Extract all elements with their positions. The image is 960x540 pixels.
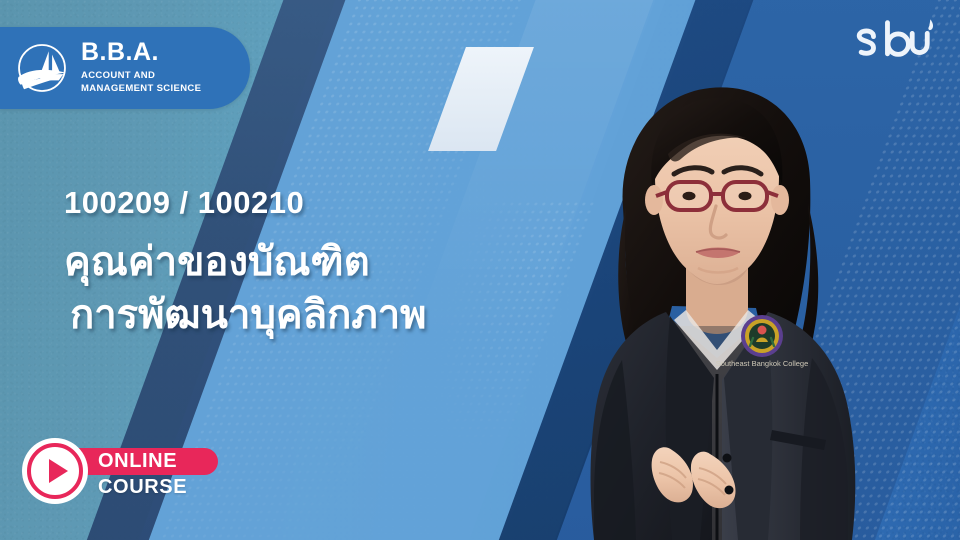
college-crest-icon: [741, 315, 783, 357]
online-course-badge[interactable]: ONLINE COURSE: [22, 434, 222, 508]
bba-text-block: B.B.A. ACCOUNT AND MANAGEMENT SCIENCE: [81, 40, 201, 96]
bba-subtitle-line-2: MANAGEMENT SCIENCE: [81, 83, 201, 96]
course-title-line-1: คุณค่าของบัณฑิต: [64, 236, 427, 289]
badge-label-course: COURSE: [98, 476, 187, 499]
crest-caption: Southeast Bangkok College: [716, 359, 809, 368]
sailboat-wave-circle-icon: [14, 40, 70, 96]
course-title-line-2: การพัฒนาบุคลิกภาพ: [70, 289, 427, 342]
bba-title: B.B.A.: [81, 40, 201, 65]
play-button[interactable]: [22, 438, 88, 504]
instructor-portrait: Southeast Bangkok College: [560, 58, 890, 540]
play-triangle-icon: [49, 459, 68, 483]
badge-label-online: ONLINE: [98, 450, 177, 473]
bba-brand-pill: B.B.A. ACCOUNT AND MANAGEMENT SCIENCE: [0, 27, 250, 109]
slide-canvas: B.B.A. ACCOUNT AND MANAGEMENT SCIENCE 10…: [0, 0, 960, 540]
bba-subtitle-line-1: ACCOUNT AND: [81, 70, 201, 83]
headline-block: 100209 / 100210 คุณค่าของบัณฑิต การพัฒนา…: [64, 186, 427, 342]
course-code: 100209 / 100210: [64, 186, 427, 220]
play-ring: [27, 443, 83, 499]
